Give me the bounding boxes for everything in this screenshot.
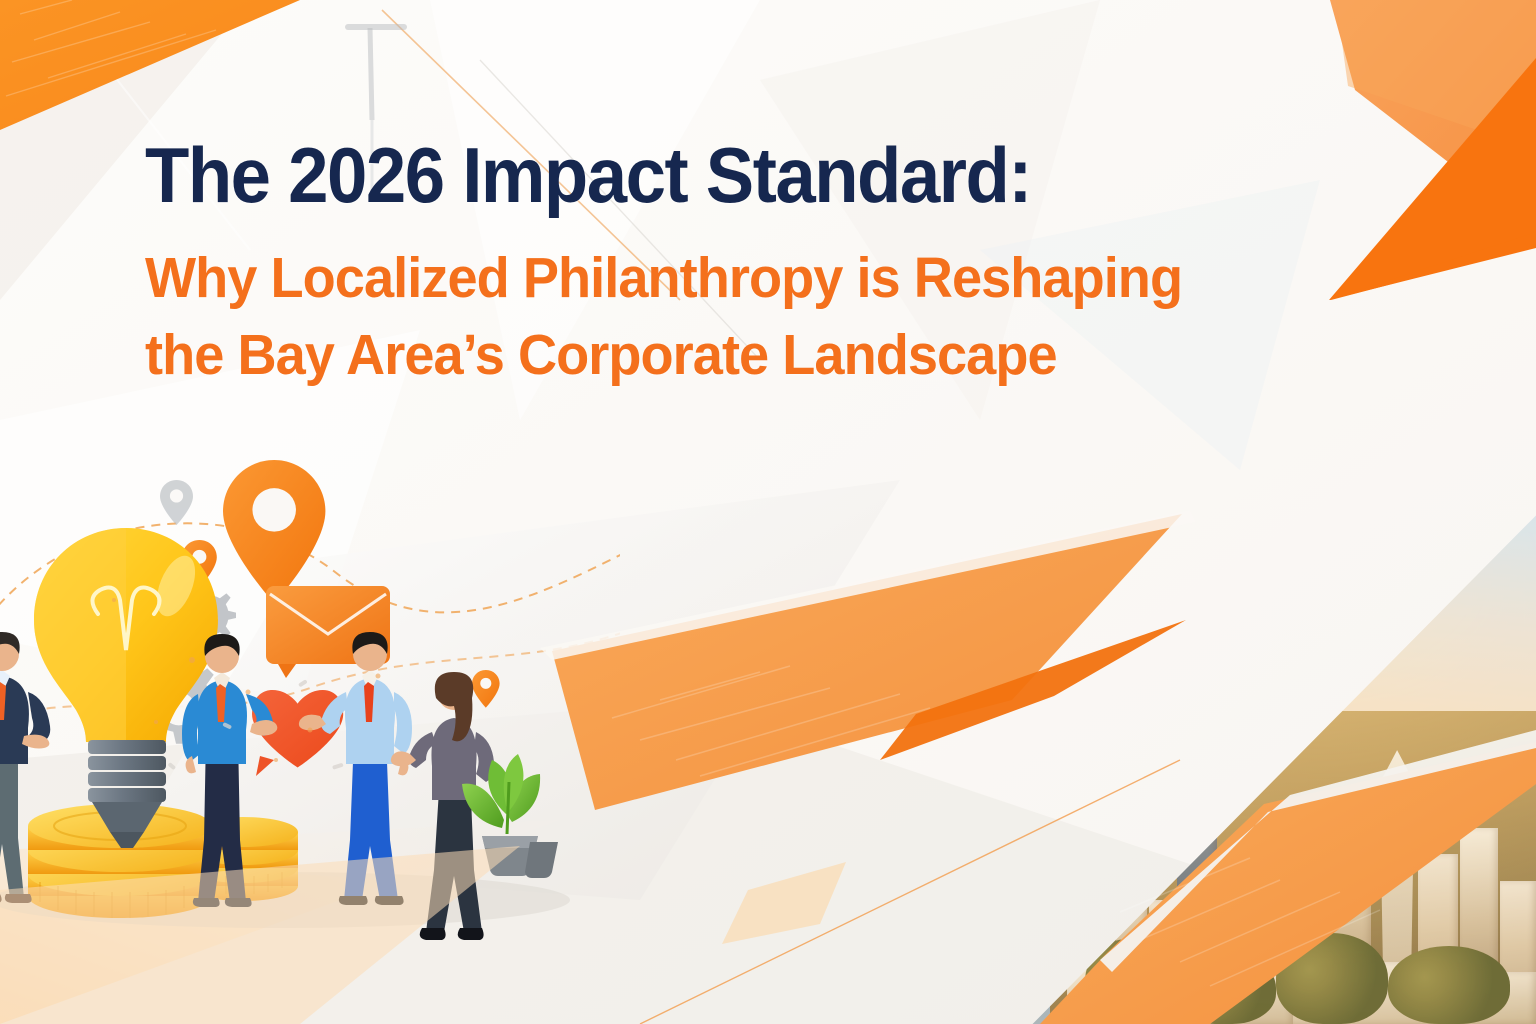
page-title: The 2026 Impact Standard:	[145, 132, 1187, 218]
bridge-cable-left	[668, 554, 926, 635]
marin-headlands	[668, 633, 1171, 737]
map-pin-small-grey-icon	[160, 480, 193, 525]
photo-edge-fade	[668, 372, 1536, 1024]
san-francisco-photo	[668, 372, 1536, 1024]
page-subtitle-line-2: the Bay Area’s Corporate Landscape	[145, 317, 1200, 394]
white-separator-2	[540, 510, 1196, 660]
orange-long-wedge-right	[1329, 58, 1536, 300]
bridge-cable-right	[963, 509, 1156, 592]
bg-card-hint	[722, 862, 846, 944]
corporate-philanthropy-illustration	[0, 430, 620, 990]
orange-diagonal-wedge-center-dark	[880, 620, 1186, 760]
map-pin-orange-small-right-icon	[472, 670, 500, 708]
potted-plant-icon	[462, 754, 558, 878]
impact-standard-banner: The 2026 Impact Standard: Why Localized …	[0, 0, 1536, 1024]
orange-diagonal-band-top-left	[0, 0, 300, 130]
orange-diagonal-wedge-center	[552, 514, 1182, 810]
page-subtitle-line-1: Why Localized Philanthropy is Reshaping	[145, 240, 1200, 317]
orange-long-wedge-right-tail	[1329, 232, 1536, 300]
map-pin-large-icon	[223, 460, 325, 603]
wedge-texture-center	[612, 666, 930, 776]
idea-lightbulb-icon	[34, 528, 218, 848]
band-texture-top-left	[6, 0, 216, 96]
bridge-deck	[668, 695, 1154, 709]
page-subtitle: Why Localized Philanthropy is Reshaping …	[145, 240, 1200, 394]
bridge-tower-right	[948, 489, 963, 724]
accent-line-2	[370, 28, 372, 120]
light-orange-triangle-top-right	[1330, 0, 1536, 230]
headline-block: The 2026 Impact Standard: Why Localized …	[145, 132, 1265, 394]
bridge-tower-left	[924, 489, 939, 724]
bridge-tower-crossbeam-top	[924, 493, 963, 501]
light-orange-triangle-top-right-2	[1336, 0, 1536, 150]
businessman-light-blue-shirt	[299, 632, 412, 905]
bridge-tower-crossbeam-mid	[924, 568, 963, 576]
bridge-tower-crossbeam-low	[924, 639, 963, 647]
